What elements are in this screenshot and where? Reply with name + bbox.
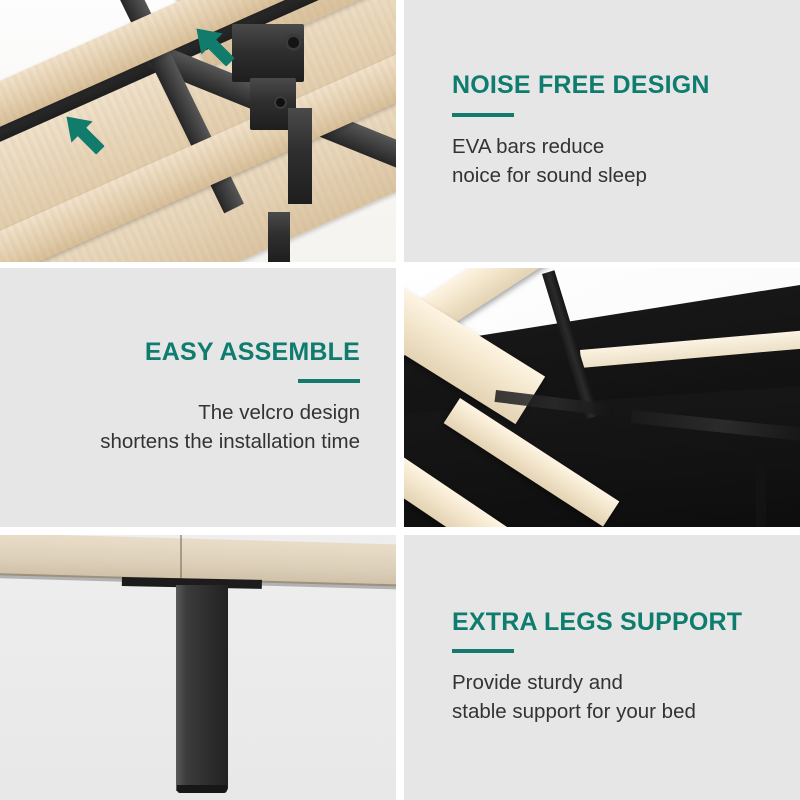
panel-body: Provide sturdy and stable support for yo… — [452, 668, 696, 726]
photo-velcro-straps-slats — [404, 268, 800, 527]
panel-body: EVA bars reduce noice for sound sleep — [452, 132, 647, 190]
photo-image — [404, 268, 800, 527]
panel-body-line-1: Provide sturdy and — [452, 671, 623, 694]
panel-body-line-2: stable support for your bed — [452, 700, 696, 723]
photo-image — [0, 0, 396, 262]
leg-edge-highlight — [176, 585, 186, 791]
title-underline-rule — [452, 113, 514, 117]
photo-image — [0, 535, 396, 800]
metal-bracket — [232, 24, 304, 82]
panel-body-line-2: shortens the installation time — [100, 430, 360, 453]
metal-post — [288, 108, 312, 204]
title-underline-rule — [452, 649, 514, 653]
panel-title: NOISE FREE DESIGN — [452, 72, 710, 100]
panel-easy-assemble: EASY ASSEMBLE The velcro design shortens… — [0, 268, 396, 527]
panel-body-line-2: noice for sound sleep — [452, 164, 647, 187]
panel-body: The velcro design shortens the installat… — [100, 398, 360, 456]
photo-slats-on-metal-frame — [0, 0, 396, 262]
feature-infographic: NOISE FREE DESIGN EVA bars reduce noice … — [0, 0, 800, 800]
metal-post — [268, 212, 290, 262]
support-leg — [756, 466, 766, 527]
panel-noise-free-design: NOISE FREE DESIGN EVA bars reduce noice … — [404, 0, 800, 262]
bolt-head-icon — [274, 96, 287, 109]
panel-body-line-1: The velcro design — [198, 401, 360, 424]
rail-seam — [180, 535, 182, 579]
panel-title: EXTRA LEGS SUPPORT — [452, 609, 742, 637]
panel-extra-legs-support: EXTRA LEGS SUPPORT Provide sturdy and st… — [404, 535, 800, 800]
panel-title: EASY ASSEMBLE — [145, 339, 360, 367]
bolt-head-icon — [285, 34, 302, 51]
photo-center-support-leg — [0, 535, 396, 800]
panel-body-line-1: EVA bars reduce — [452, 135, 604, 158]
leg-foot — [177, 785, 227, 793]
title-underline-rule — [298, 379, 360, 383]
